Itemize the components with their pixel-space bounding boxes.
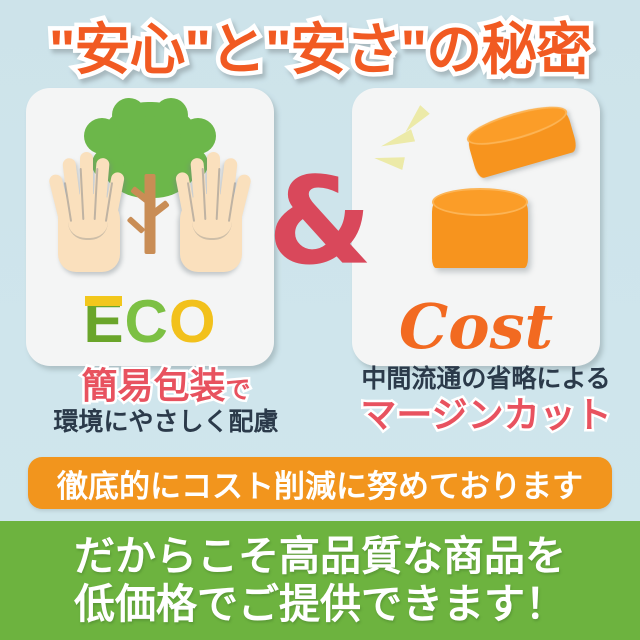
eco-caption-headline: 簡易包装で (16, 366, 316, 406)
closing-message-footer: だからこそ高品質な商品を 低価格でご提供できます！ (0, 521, 640, 640)
ampersand-separator: & (275, 158, 365, 288)
eco-caption-sub: 環境にやさしく配慮 (16, 407, 316, 437)
eco-caption-suffix: で (226, 376, 251, 404)
eco-letter-e: E (83, 292, 124, 352)
tree-canopy-blob (154, 98, 188, 132)
eco-letter-o: O (169, 288, 217, 355)
left-hand-icon (52, 148, 126, 272)
tree-branch (127, 216, 146, 234)
cost-caption: 中間流通の省略による マージンカット (336, 364, 636, 435)
footer-line-1: だからこそ高品質な商品を (74, 534, 566, 579)
cost-wordmark: Cost (352, 296, 600, 358)
cost-reduction-banner: 徹底的にコスト削減に努めております (28, 457, 612, 509)
page-title: "安心"と"安さ"の秘密 (49, 5, 591, 86)
cost-cylinder (432, 188, 528, 276)
motion-spark (400, 105, 430, 136)
tree-canopy-blob (112, 98, 146, 132)
footer-line-2: 低価格でご提供できます！ (74, 582, 566, 627)
eco-caption: 簡易包装で 環境にやさしく配慮 (16, 366, 316, 437)
motion-spark (373, 151, 405, 170)
banner-text: 徹底的にコスト削減に努めております (57, 461, 583, 506)
eco-letter-c: C (125, 288, 169, 355)
cost-card: Cost (352, 88, 600, 366)
eco-caption-main: 簡易包装 (81, 365, 225, 406)
eco-wordmark: ECO (26, 292, 274, 352)
cost-caption-sub: 中間流通の省略による (336, 364, 636, 394)
cut-cost-cylinder-icon (352, 96, 600, 296)
title-area: "安心"と"安さ"の秘密 (0, 6, 640, 84)
cost-caption-headline: マージンカット (336, 395, 636, 435)
right-hand-icon (174, 148, 248, 272)
hands-holding-tree-icon (26, 96, 274, 296)
eco-card: ECO (26, 88, 274, 366)
cut-slice (463, 99, 580, 187)
promo-poster: "安心"と"安さ"の秘密 (0, 0, 640, 640)
motion-spark (379, 129, 415, 152)
